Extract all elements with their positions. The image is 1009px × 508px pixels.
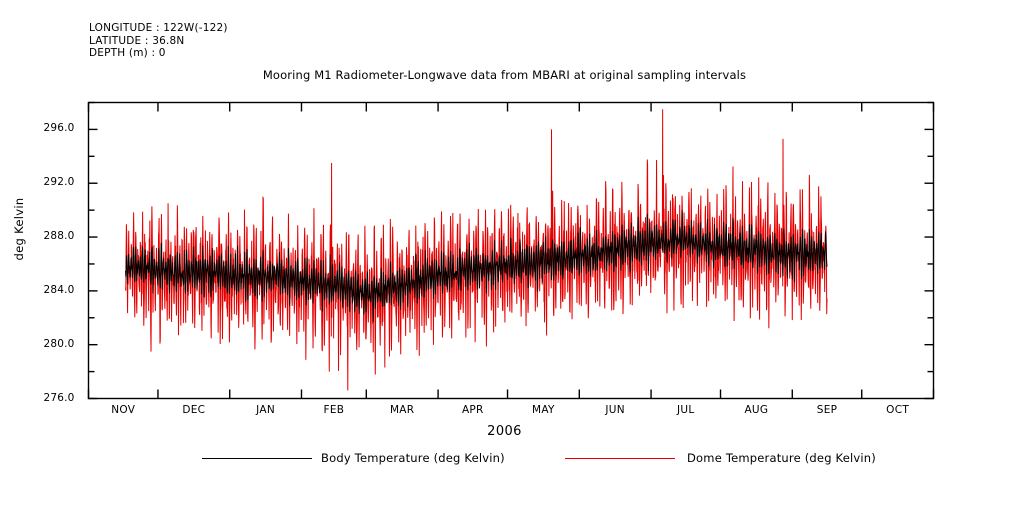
x-tick-label: AUG [716, 404, 796, 416]
x-tick-label: JUN [575, 404, 655, 416]
x-tick-label: OCT [858, 404, 938, 416]
y-tick-label: 292.0 [0, 176, 75, 188]
x-tick-label: DEC [154, 404, 234, 416]
x-tick-label: SEP [787, 404, 867, 416]
series-group [126, 109, 827, 390]
y-tick-label: 284.0 [0, 284, 75, 296]
legend-label-dome: Dome Temperature (deg Kelvin) [687, 451, 876, 465]
legend-line-body [202, 458, 312, 459]
y-tick-label: 280.0 [0, 338, 75, 350]
x-tick-label: MAY [503, 404, 583, 416]
legend-line-dome [565, 458, 675, 459]
x-tick-label: JUL [646, 404, 726, 416]
chart-legend: Body Temperature (deg Kelvin) Dome Tempe… [0, 447, 1009, 469]
x-axis-label: 2006 [0, 424, 1009, 439]
y-tick-label: 296.0 [0, 122, 75, 134]
y-tick-label: 288.0 [0, 230, 75, 242]
x-tick-label: MAR [362, 404, 442, 416]
legend-label-body: Body Temperature (deg Kelvin) [321, 451, 505, 465]
y-axis-label: deg Kelvin [12, 174, 26, 284]
chart-plot-area: deg Kelvin 2006 276.0280.0284.0288.0292.… [0, 0, 1009, 504]
y-tick-label: 276.0 [0, 392, 75, 404]
x-tick-label: NOV [83, 404, 163, 416]
x-tick-label: APR [433, 404, 513, 416]
